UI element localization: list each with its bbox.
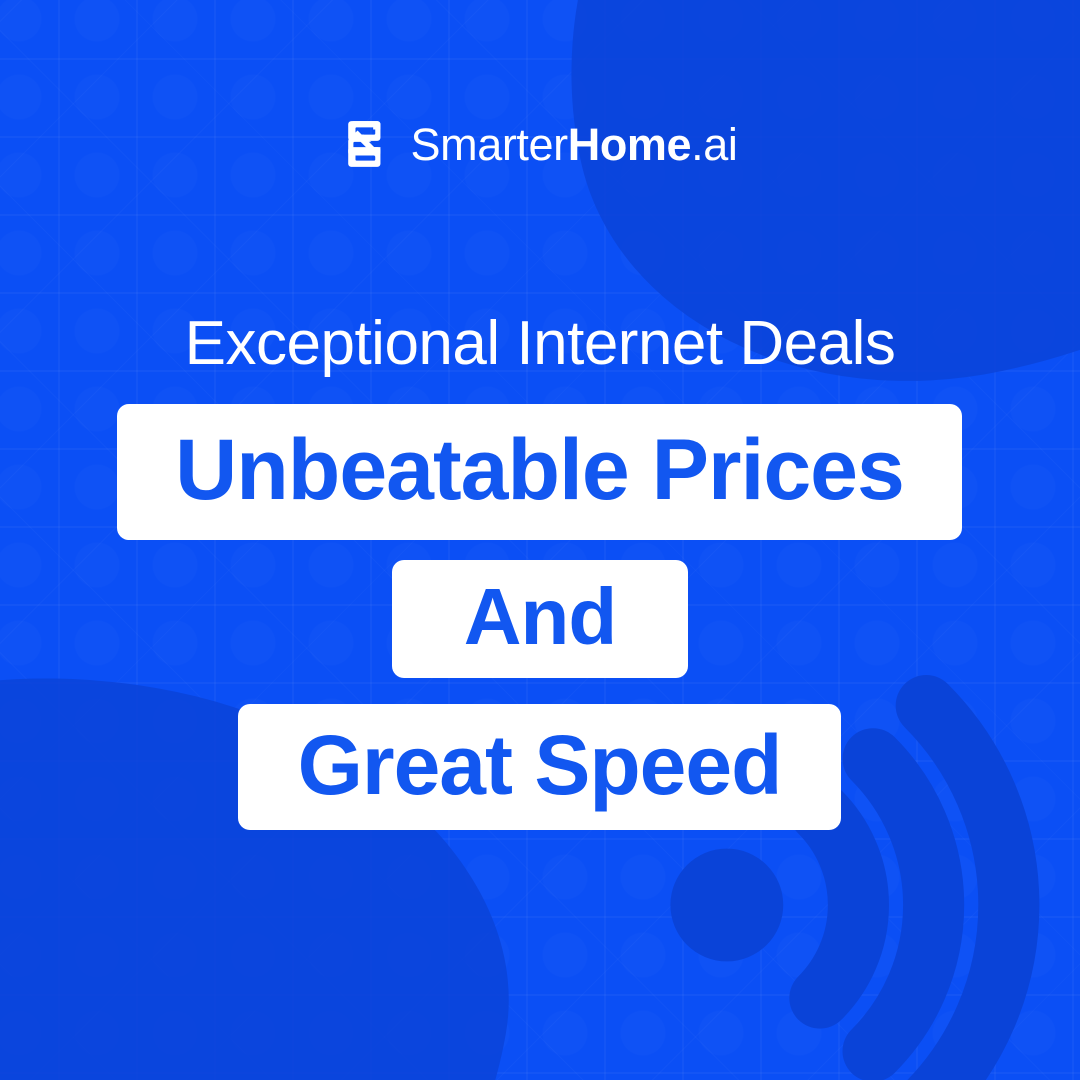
brand-wordmark: SmarterHome.ai bbox=[411, 122, 738, 167]
smarterhome-s-monogram-icon bbox=[343, 118, 395, 170]
brand-name-part-2: Home bbox=[568, 119, 691, 170]
promo-canvas: SmarterHome.ai Exceptional Internet Deal… bbox=[0, 0, 1080, 1080]
brand-name-part-1: Smarter bbox=[411, 119, 568, 170]
headline-text: Exceptional Internet Deals bbox=[0, 310, 1080, 378]
banner-great-speed-label: Great Speed bbox=[298, 717, 782, 814]
banner-unbeatable-prices: Unbeatable Prices bbox=[117, 404, 962, 540]
banner-great-speed: Great Speed bbox=[238, 704, 841, 830]
banner-and-label: And bbox=[464, 571, 617, 663]
brand-logo: SmarterHome.ai bbox=[0, 118, 1080, 170]
brand-name-suffix: .ai bbox=[691, 119, 737, 170]
banner-unbeatable-prices-label: Unbeatable Prices bbox=[175, 421, 904, 520]
banner-and: And bbox=[392, 560, 688, 678]
